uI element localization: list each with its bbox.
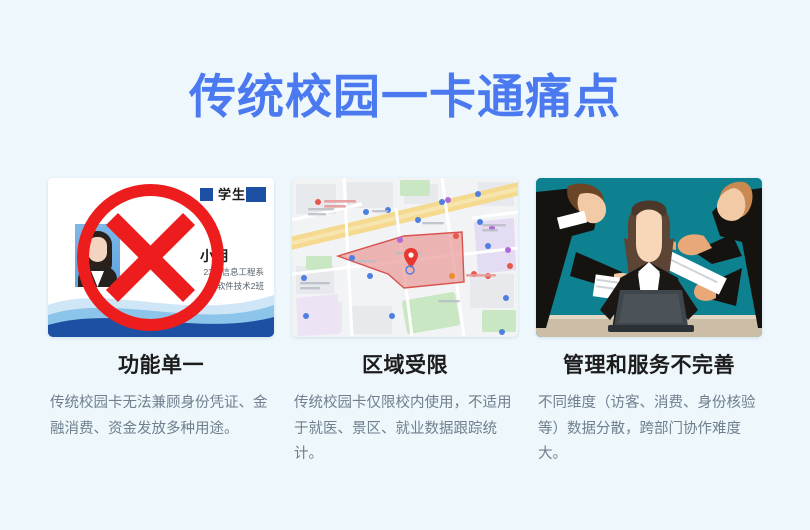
card-area-limited: 区域受限 传统校园卡仅限校内使用，不适用于就医、景区、就业数据跟踪统计。	[292, 178, 518, 467]
page-title: 传统校园一卡通痛点	[0, 72, 810, 121]
card-management-service: 管理和服务不完善 不同维度（访客、消费、身份核验等）数据分散，跨部门协作难度大。	[536, 178, 762, 467]
card-function-single: 学生卡 小明 23级信息工程系 软件技术2班	[48, 178, 274, 467]
card-chip-icon	[246, 187, 266, 202]
thumbnail-campus-map	[292, 178, 518, 337]
card-description-function-single: 传统校园卡无法兼顾身份凭证、金融消费、资金发放多种用途。	[48, 391, 274, 442]
thumbnail-student-id-card: 学生卡 小明 23级信息工程系 软件技术2班	[48, 178, 274, 337]
thumbnail-office-illustration	[536, 178, 762, 337]
card-heading-function-single: 功能单一	[48, 353, 274, 378]
card-heading-area-limited: 区域受限	[292, 353, 518, 378]
school-logo-icon	[200, 188, 213, 201]
illustration-graphic	[536, 178, 762, 337]
card-description-management-service: 不同维度（访客、消费、身份核验等）数据分散，跨部门协作难度大。	[536, 391, 762, 467]
map-graphic	[292, 178, 518, 337]
office-illustration	[536, 178, 762, 337]
card-description-area-limited: 传统校园卡仅限校内使用，不适用于就医、景区、就业数据跟踪统计。	[292, 391, 518, 467]
cards-row: 学生卡 小明 23级信息工程系 软件技术2班	[0, 178, 810, 467]
card-heading-management-service: 管理和服务不完善	[536, 353, 762, 378]
campus-map	[292, 178, 518, 337]
